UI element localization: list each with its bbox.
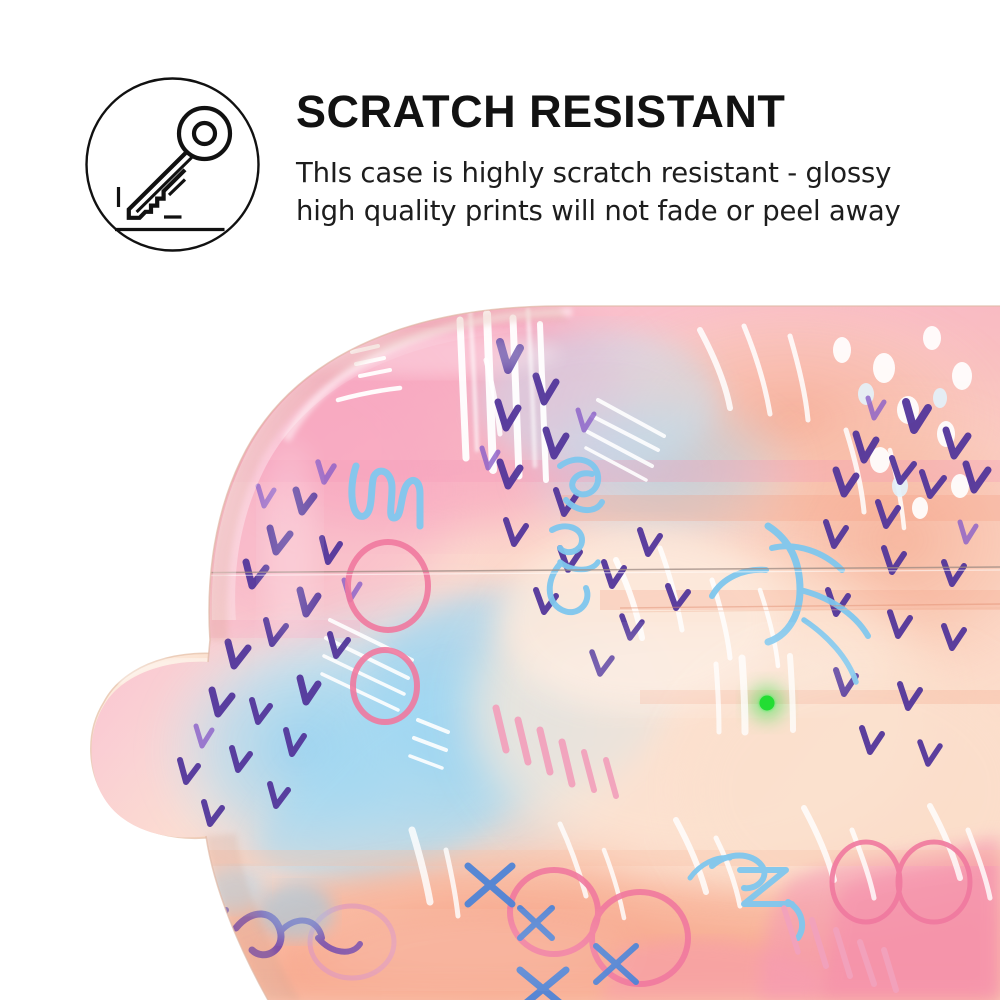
charging-led-indicator: [741, 677, 793, 729]
feature-description: ThIs case is highly scratch resistant - …: [296, 155, 944, 230]
feature-header: SCRATCH RESISTANT ThIs case is highly sc…: [0, 0, 1000, 290]
product-image: [0, 290, 1000, 1000]
case-body: [0, 290, 1000, 1000]
page-title: SCRATCH RESISTANT: [296, 88, 956, 135]
key-scratch-icon: [84, 76, 261, 253]
feature-text-block: SCRATCH RESISTANT ThIs case is highly sc…: [296, 88, 956, 230]
